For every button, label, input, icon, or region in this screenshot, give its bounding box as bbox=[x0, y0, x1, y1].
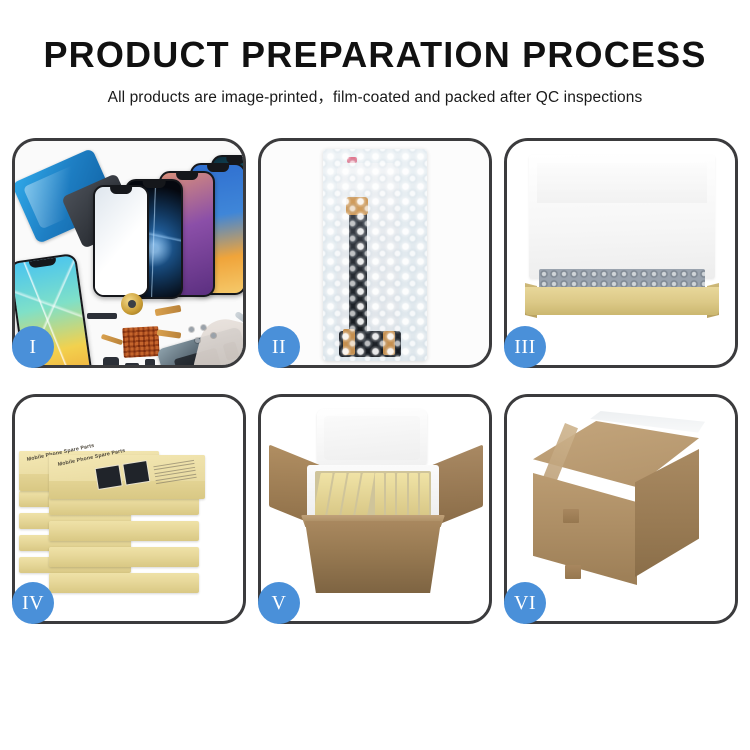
carton-front-face-icon bbox=[533, 473, 637, 585]
screws-icon bbox=[187, 325, 221, 345]
step-badge-2: II bbox=[258, 326, 300, 368]
camera-module-icon bbox=[103, 357, 119, 365]
chip-part-icon bbox=[87, 313, 117, 319]
step-panel-1: I bbox=[12, 138, 246, 368]
page-subtitle: All products are image-printed，film-coat… bbox=[0, 74, 750, 107]
step-badge-3: III bbox=[504, 326, 546, 368]
flex-cable-icon bbox=[155, 305, 182, 316]
yellow-box-tray-icon bbox=[525, 269, 719, 315]
shipping-carton-open-icon bbox=[305, 521, 441, 593]
step-image-inner-box bbox=[507, 141, 735, 365]
header: PRODUCT PREPARATION PROCESS All products… bbox=[0, 0, 750, 107]
speaker-coil-icon bbox=[121, 293, 143, 315]
step-badge-5: V bbox=[258, 582, 300, 624]
phone-glass-panel-icon bbox=[93, 185, 149, 297]
step-image-sealed-carton bbox=[507, 397, 735, 621]
copper-mesh-icon bbox=[122, 326, 160, 358]
step-image-bubble-wrap bbox=[261, 141, 489, 365]
carton-tab-upper-icon bbox=[563, 509, 579, 523]
flex-cable-right-icon bbox=[157, 329, 182, 338]
bubble-wrap-bag-icon bbox=[323, 149, 427, 361]
step-panel-6: VI bbox=[504, 394, 738, 624]
step-panel-5: V bbox=[258, 394, 492, 624]
styrofoam-lid-icon bbox=[317, 409, 427, 467]
sim-tray-icon bbox=[145, 359, 155, 365]
foam-lid-icon bbox=[529, 155, 715, 279]
step-panel-4: Mobile Phone Spare Parts Mobile Phone Sp… bbox=[12, 394, 246, 624]
step-image-box-stack: Mobile Phone Spare Parts Mobile Phone Sp… bbox=[15, 397, 243, 621]
process-step-grid: I II bbox=[12, 138, 738, 690]
step-badge-4: IV bbox=[12, 582, 54, 624]
carton-tab-lower-icon bbox=[565, 565, 581, 579]
product-preparation-infographic: PRODUCT PREPARATION PROCESS All products… bbox=[0, 0, 750, 750]
packed-yellow-boxes-icon bbox=[315, 471, 431, 517]
button-part-icon bbox=[125, 363, 139, 365]
step-image-parts-assortment bbox=[15, 141, 243, 365]
flex-cable-short-icon bbox=[101, 334, 123, 346]
step-panel-3: III bbox=[504, 138, 738, 368]
page-title: PRODUCT PREPARATION PROCESS bbox=[0, 0, 750, 74]
step-panel-2: II bbox=[258, 138, 492, 368]
step-image-foam-carton bbox=[261, 397, 489, 621]
step-badge-6: VI bbox=[504, 582, 546, 624]
step-badge-1: I bbox=[12, 326, 54, 368]
box-stack-icon: Mobile Phone Spare Parts Mobile Phone Sp… bbox=[19, 417, 239, 607]
